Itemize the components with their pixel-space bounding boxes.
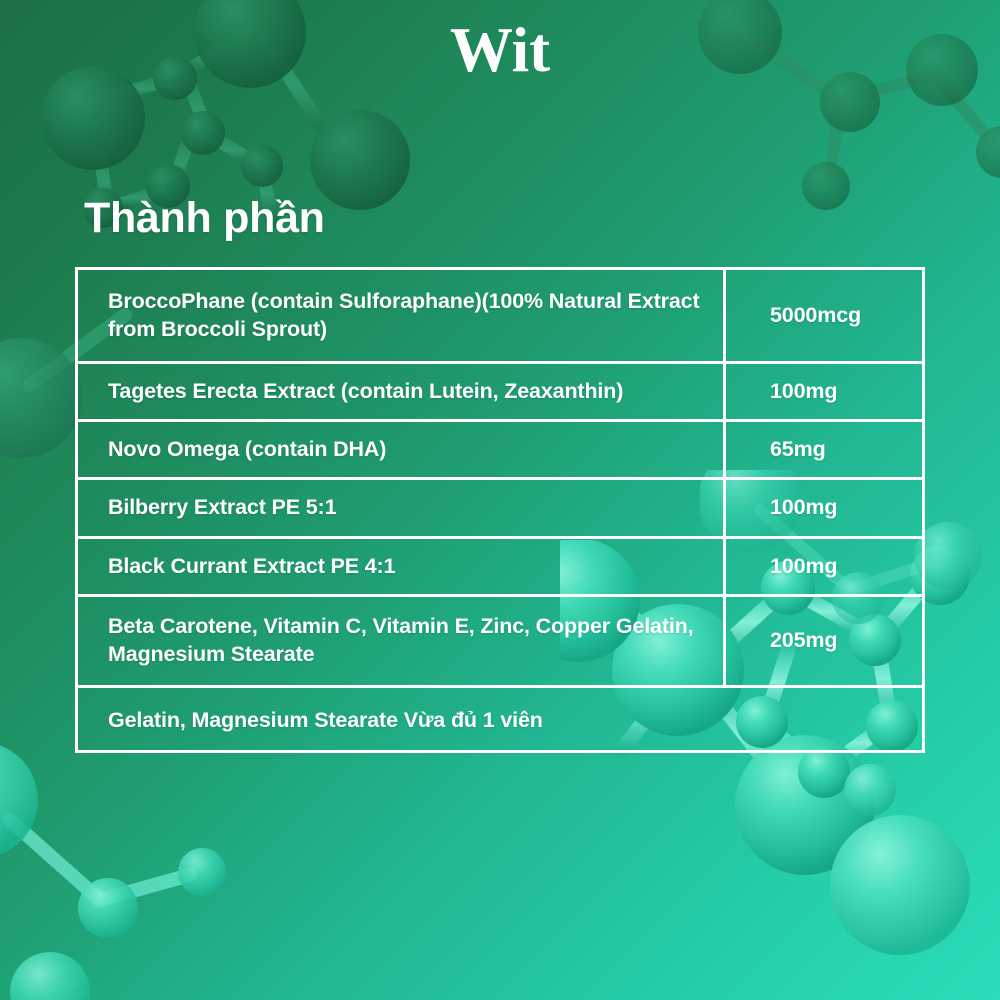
brand-logo: Wit <box>0 17 1000 83</box>
ingredient-name-cell: Gelatin, Magnesium Stearate Vừa đủ 1 viê… <box>78 688 922 753</box>
ingredient-name-text: Gelatin, Magnesium Stearate Vừa đủ 1 viê… <box>108 707 543 735</box>
page-title: Thành phần <box>84 194 325 243</box>
ingredient-amount-cell: 5000mcg <box>726 270 922 361</box>
table-row: Beta Carotene, Vitamin C, Vitamin E, Zin… <box>78 597 922 688</box>
ingredient-amount-text: 100mg <box>770 378 837 406</box>
ingredient-name-text: BroccoPhane (contain Sulforaphane)(100% … <box>108 288 707 343</box>
ingredient-amount-text: 205mg <box>770 627 837 655</box>
ingredients-table: BroccoPhane (contain Sulforaphane)(100% … <box>75 267 925 753</box>
ingredient-name-cell: Novo Omega (contain DHA) <box>78 422 726 477</box>
molecule-cluster-bottom-right <box>830 760 1000 1000</box>
ingredient-name-text: Beta Carotene, Vitamin C, Vitamin E, Zin… <box>108 613 707 668</box>
table-row: Gelatin, Magnesium Stearate Vừa đủ 1 viê… <box>78 688 922 753</box>
table-row: Tagetes Erecta Extract (contain Lutein, … <box>78 364 922 422</box>
table-row: BroccoPhane (contain Sulforaphane)(100% … <box>78 270 922 364</box>
ingredient-name-text: Novo Omega (contain DHA) <box>108 436 386 464</box>
ingredient-amount-text: 100mg <box>770 494 837 522</box>
table-row: Novo Omega (contain DHA) 65mg <box>78 422 922 480</box>
ingredient-name-text: Bilberry Extract PE 5:1 <box>108 494 336 522</box>
ingredient-poster: Wit Thành phần BroccoPhane (contain Sulf… <box>0 0 1000 1000</box>
table-row: Black Currant Extract PE 4:1 100mg <box>78 539 922 597</box>
ingredient-amount-text: 5000mcg <box>770 302 861 330</box>
ingredient-name-cell: BroccoPhane (contain Sulforaphane)(100% … <box>78 270 726 361</box>
ingredient-amount-cell: 205mg <box>726 597 922 685</box>
ingredient-name-cell: Tagetes Erecta Extract (contain Lutein, … <box>78 364 726 419</box>
ingredient-amount-text: 65mg <box>770 436 826 464</box>
ingredient-amount-text: 100mg <box>770 553 837 581</box>
table-row: Bilberry Extract PE 5:1 100mg <box>78 480 922 539</box>
ingredient-name-cell: Black Currant Extract PE 4:1 <box>78 539 726 594</box>
ingredient-amount-cell: 100mg <box>726 539 922 594</box>
ingredient-amount-cell: 100mg <box>726 364 922 419</box>
ingredient-amount-cell: 100mg <box>726 480 922 536</box>
ingredient-amount-cell: 65mg <box>726 422 922 477</box>
ingredient-name-cell: Beta Carotene, Vitamin C, Vitamin E, Zin… <box>78 597 726 685</box>
ingredient-name-text: Tagetes Erecta Extract (contain Lutein, … <box>108 378 623 406</box>
ingredient-name-text: Black Currant Extract PE 4:1 <box>108 553 395 581</box>
ingredient-name-cell: Bilberry Extract PE 5:1 <box>78 480 726 536</box>
